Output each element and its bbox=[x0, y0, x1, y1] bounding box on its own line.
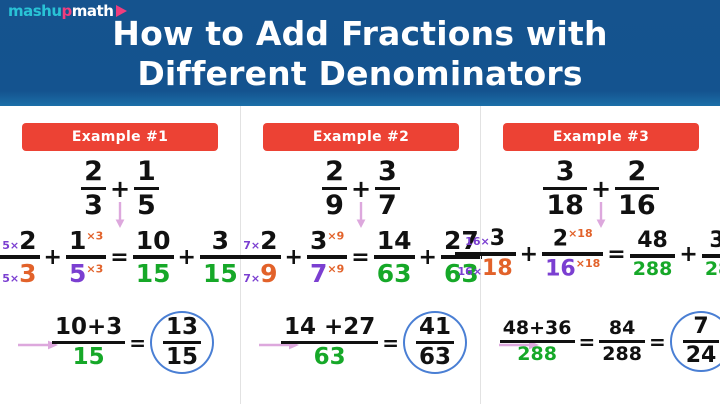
multiplier-suffix: ×3 bbox=[86, 230, 103, 243]
page-title: How to Add Fractions with Different Deno… bbox=[0, 14, 720, 94]
numerator: 1×3 bbox=[66, 228, 106, 253]
numerator: 1 bbox=[134, 158, 159, 185]
denominator-value: 3 bbox=[19, 259, 36, 288]
numerator: 2 bbox=[624, 158, 649, 185]
plus-operator: + bbox=[587, 175, 615, 203]
plus-operator: + bbox=[174, 245, 200, 270]
example-badge-1: Example #1 bbox=[22, 123, 218, 151]
example-column-2: Example #2 2 9 + 3 7 bbox=[240, 106, 480, 404]
example-badge-3: Example #3 bbox=[503, 123, 699, 151]
converted-expression-1: 5×2 5×3 + 1×3 5×3 = 10 15 + 3 bbox=[0, 228, 240, 286]
denominator-value: 16 bbox=[545, 257, 576, 282]
denominator-value: 9 bbox=[260, 259, 277, 288]
denominator: 7 bbox=[375, 192, 400, 219]
final-expression-3: 48+36 288 = 84 288 = 7 24 bbox=[481, 311, 720, 372]
denominator: 5×3 bbox=[66, 261, 106, 286]
numerator-value: 1 bbox=[69, 226, 86, 255]
numerator: 2 bbox=[322, 158, 347, 185]
numerator: 3×9 bbox=[307, 228, 347, 253]
examples-container: Example #1 2 3 + 1 5 bbox=[0, 106, 720, 404]
answer-denominator: 24 bbox=[683, 345, 720, 367]
denominator: 5×3 bbox=[0, 261, 40, 286]
denominator: 15 bbox=[200, 261, 241, 286]
plus-operator: + bbox=[347, 175, 375, 203]
numerator: 2 bbox=[81, 158, 106, 185]
sum-fraction-2: 14 +27 63 bbox=[281, 316, 378, 369]
denominator: 63 bbox=[311, 346, 349, 369]
plus-operator: + bbox=[516, 242, 542, 267]
numerator: 5×2 bbox=[0, 228, 40, 253]
converted-fraction-1a: 5×2 5×3 bbox=[0, 228, 40, 286]
numerator: 7×2 bbox=[240, 228, 280, 253]
denominator-value: 5 bbox=[69, 259, 86, 288]
numerator: 14 +27 bbox=[281, 316, 378, 339]
header-banner: mashupmath How to Add Fractions with Dif… bbox=[0, 0, 720, 106]
denominator: 5 bbox=[134, 192, 159, 219]
sum-fraction-3: 48+36 288 bbox=[500, 319, 575, 364]
multiplier-prefix: 16× bbox=[458, 265, 483, 278]
multiplier-prefix: 7× bbox=[243, 239, 260, 252]
numerator: 16×3 bbox=[462, 228, 508, 250]
answer-circle-3: 7 24 bbox=[670, 311, 720, 372]
answer-circle-1: 13 15 bbox=[150, 311, 214, 374]
denominator: 7×9 bbox=[307, 261, 347, 286]
fraction-2b: 3 7 bbox=[375, 158, 400, 219]
denominator: 16×18 bbox=[542, 258, 603, 280]
answer-numerator: 7 bbox=[690, 316, 711, 338]
result-fraction-1b: 3 15 bbox=[200, 228, 241, 286]
multiplier-suffix: ×3 bbox=[86, 263, 103, 276]
final-expression-2: 14 +27 63 = 41 63 bbox=[241, 311, 481, 374]
result-fraction-1a: 10 15 bbox=[133, 228, 174, 286]
denominator: 63 bbox=[374, 261, 415, 286]
denominator: 288 bbox=[702, 260, 720, 279]
numerator: 3 bbox=[553, 158, 578, 185]
multiplier-suffix: ×18 bbox=[576, 257, 601, 270]
multiplier-prefix: 7× bbox=[243, 272, 260, 285]
denominator: 7×9 bbox=[240, 261, 280, 286]
result-fraction-2a: 14 63 bbox=[374, 228, 415, 286]
result-fraction-3b: 36 288 bbox=[702, 230, 720, 279]
converted-expression-2: 7×2 7×9 + 3×9 7×9 = 14 63 + 2 bbox=[241, 228, 481, 286]
numerator: 48+36 bbox=[500, 319, 575, 338]
equals-operator: = bbox=[575, 330, 600, 354]
answer-denominator: 15 bbox=[163, 346, 201, 369]
converted-fraction-3a: 16×3 16×18 bbox=[455, 228, 516, 280]
converted-fraction-1b: 1×3 5×3 bbox=[66, 228, 106, 286]
multiplier-suffix: ×9 bbox=[327, 230, 344, 243]
numerator: 3 bbox=[209, 228, 232, 253]
plus-operator: + bbox=[106, 175, 134, 203]
title-line-2: Different Denominators bbox=[0, 54, 720, 94]
equals-operator-2: = bbox=[645, 330, 670, 354]
denominator: 18 bbox=[543, 192, 587, 219]
title-line-1: How to Add Fractions with bbox=[0, 14, 720, 54]
down-arrow-icon-3 bbox=[594, 202, 608, 228]
denominator: 288 bbox=[514, 345, 560, 364]
plus-operator: + bbox=[415, 245, 441, 270]
multiplier-prefix: 16× bbox=[465, 235, 490, 248]
numerator: 48 bbox=[634, 230, 671, 252]
equals-operator: = bbox=[106, 245, 132, 270]
denominator: 9 bbox=[322, 192, 347, 219]
answer-circle-2: 41 63 bbox=[403, 311, 467, 374]
numerator: 14 bbox=[374, 228, 415, 253]
equals-operator: = bbox=[347, 245, 373, 270]
answer-denominator: 63 bbox=[416, 346, 454, 369]
lesson-slide: mashupmath How to Add Fractions with Dif… bbox=[0, 0, 720, 404]
example-column-3: Example #3 3 18 + 2 16 bbox=[480, 106, 720, 404]
multiplier-suffix: ×9 bbox=[327, 263, 344, 276]
converted-fraction-2a: 7×2 7×9 bbox=[240, 228, 280, 286]
converted-fraction-3b: 2×18 16×18 bbox=[542, 228, 603, 281]
multiplier-prefix: 5× bbox=[2, 272, 19, 285]
denominator: 15 bbox=[133, 261, 174, 286]
denominator-value: 18 bbox=[482, 256, 513, 281]
simplify-fraction-3: 84 288 bbox=[599, 319, 645, 364]
numerator: 10+3 bbox=[52, 316, 125, 339]
numerator-value: 2 bbox=[553, 226, 568, 251]
numerator-value: 2 bbox=[19, 226, 36, 255]
denominator: 288 bbox=[599, 345, 645, 364]
down-arrow-icon-1 bbox=[113, 202, 127, 228]
numerator-value: 2 bbox=[260, 226, 277, 255]
sum-fraction-1: 10+3 15 bbox=[52, 316, 125, 369]
plus-operator: + bbox=[675, 242, 701, 267]
numerator: 10 bbox=[133, 228, 174, 253]
converted-expression-3: 16×3 16×18 + 2×18 16×18 = 48 288 + bbox=[481, 228, 720, 281]
example-column-1: Example #1 2 3 + 1 5 bbox=[0, 106, 240, 404]
fraction-1a: 2 3 bbox=[81, 158, 106, 219]
numerator: 84 bbox=[606, 319, 638, 338]
equals-operator: = bbox=[603, 242, 629, 267]
answer-numerator: 13 bbox=[163, 316, 201, 339]
numerator: 2×18 bbox=[550, 228, 596, 250]
fraction-3a: 3 18 bbox=[543, 158, 587, 219]
plus-operator: + bbox=[281, 245, 307, 270]
denominator-value: 7 bbox=[310, 259, 327, 288]
equals-operator: = bbox=[378, 331, 403, 355]
denominator: 15 bbox=[70, 346, 108, 369]
example-badge-2: Example #2 bbox=[263, 123, 459, 151]
down-arrow-icon-2 bbox=[354, 202, 368, 228]
multiplier-prefix: 5× bbox=[2, 239, 19, 252]
numerator-value: 3 bbox=[490, 226, 505, 251]
plus-operator: + bbox=[40, 245, 66, 270]
numerator: 36 bbox=[706, 230, 720, 252]
answer-numerator: 41 bbox=[416, 316, 454, 339]
denominator: 3 bbox=[81, 192, 106, 219]
converted-fraction-2b: 3×9 7×9 bbox=[307, 228, 347, 286]
equals-operator: = bbox=[125, 331, 150, 355]
denominator: 16×18 bbox=[455, 258, 516, 280]
fraction-3b: 2 16 bbox=[615, 158, 659, 219]
numerator-value: 3 bbox=[310, 226, 327, 255]
numerator: 3 bbox=[375, 158, 400, 185]
fraction-2a: 2 9 bbox=[322, 158, 347, 219]
final-expression-1: 10+3 15 = 13 15 bbox=[0, 311, 240, 374]
denominator: 288 bbox=[630, 260, 676, 279]
result-fraction-3a: 48 288 bbox=[630, 230, 676, 279]
multiplier-suffix: ×18 bbox=[568, 227, 593, 240]
denominator: 16 bbox=[615, 192, 659, 219]
fraction-1b: 1 5 bbox=[134, 158, 159, 219]
